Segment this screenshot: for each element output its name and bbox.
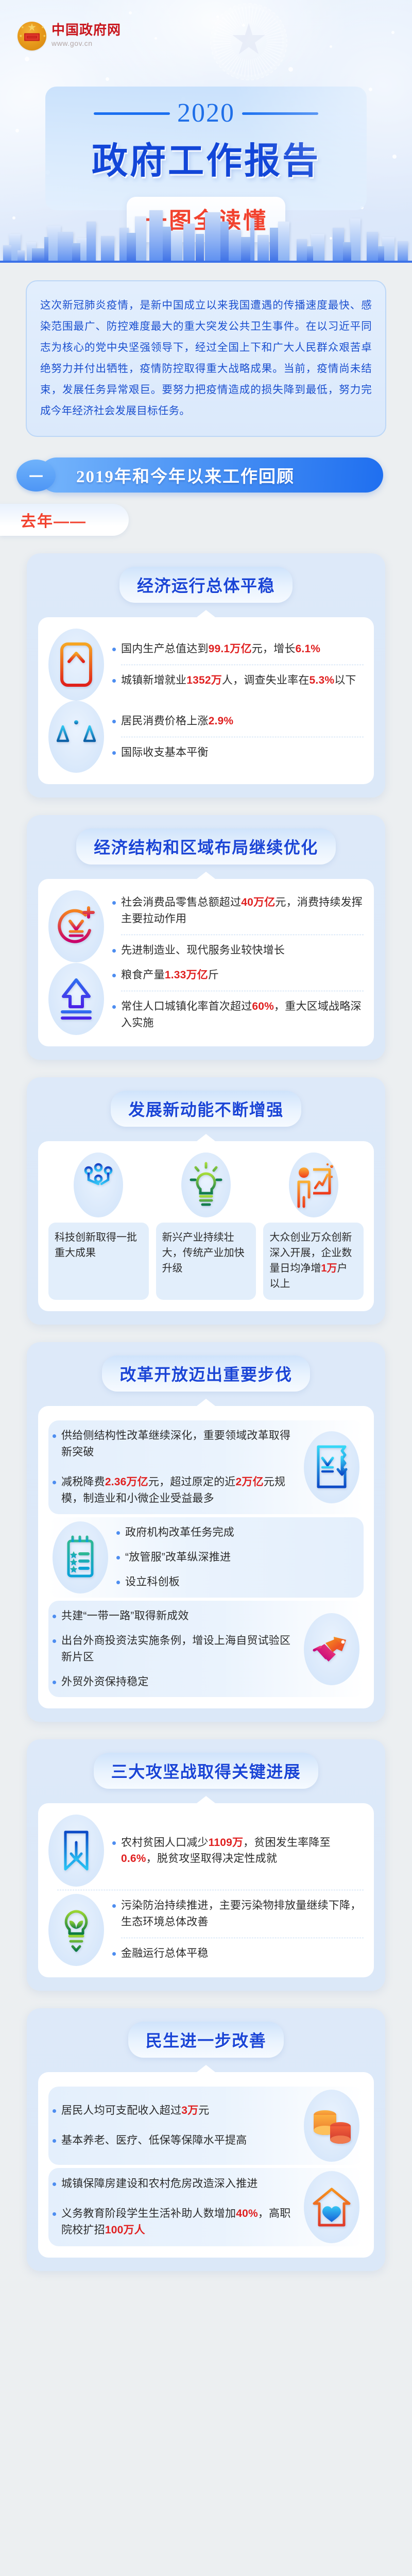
section-index: 一 [29, 466, 43, 486]
card-notch [197, 1399, 215, 1406]
bullet-dot [112, 679, 116, 683]
card-notch [197, 1796, 215, 1803]
intro-section: 这次新冠肺炎疫情，是新中国成立以来我国遭遇的传播速度最快、感染范围最广、防控难度… [0, 263, 412, 441]
stat-group: 污染防治持续推进，主要污染物排放量继续下降，生态环境总体改善 金融运行总体平稳 [48, 1893, 364, 1966]
bullet-list: 农村贫困人口减少1109万，贫困发生率降至0.6%，脱贫攻坚取得决定性成就 [112, 1831, 364, 1872]
intro-card: 这次新冠肺炎疫情，是新中国成立以来我国遭遇的传播速度最快、感染范围最广、防控难度… [26, 280, 386, 437]
up-arrow-line-icon [48, 963, 104, 1035]
checklist-icon [53, 1521, 108, 1594]
subhead-label: 去年—— [21, 509, 87, 531]
bullet-text: 出台外商投资法实施条例，增设上海自贸试验区新片区 [61, 1633, 296, 1666]
trio-caption: 新兴产业持续壮大，传统产业加快升级 [156, 1223, 256, 1300]
card-title-pill: 三大攻坚战取得关键进展 [94, 1753, 319, 1789]
balance-scale-icon [48, 701, 104, 773]
list-item: 政府机构改革任务完成 [116, 1520, 359, 1545]
bullet-dot [53, 2109, 56, 2113]
card-notch [197, 610, 215, 617]
stat-group: 农村贫困人口减少1109万，贫困发生率降至0.6%，脱贫攻坚取得决定性成就 [48, 1815, 364, 1887]
list-item: 先进制造业、现代服务业较快增长 [112, 938, 364, 963]
list-item: 城镇新增就业1352万人，调查失业率在5.3%以下 [112, 668, 364, 693]
card-notch [197, 872, 215, 879]
stat-group: 政府机构改革任务完成 “放管服”改革纵深推进 设立科创板 [53, 1520, 359, 1595]
brand-url: www.gov.cn [51, 39, 121, 47]
stat-group: 居民人均可支配收入超过3万元 基本养老、医疗、低保等保障水平提高 [53, 2090, 359, 2162]
down-arrow-bookmark-icon [48, 1815, 104, 1887]
bullet-text: 城镇新增就业1352万人，调查失业率在5.3%以下 [121, 672, 356, 689]
card-title-pill: 改革开放迈出重要步伐 [102, 1355, 310, 1392]
bullet-list: 城镇保障房建设和农村危房改造深入推进 义务教育阶段学生生活补助人数增加40%，高… [53, 2172, 296, 2243]
card-title: 发展新动能不断增强 [128, 1100, 284, 1119]
hero-year: 2020 [177, 100, 235, 127]
card-title-pill: 民生进一步改善 [128, 2022, 284, 2058]
list-item: 居民人均可支配收入超过3万元 [53, 2098, 296, 2123]
bullet-text: 国际收支基本平衡 [121, 744, 209, 761]
yuan-plus-icon [48, 890, 104, 962]
bullet-dot [112, 974, 116, 977]
bullet-dot [112, 720, 116, 723]
bullet-dot [116, 1581, 120, 1584]
panel-group: 供给侧结构性改革继续深化，重要领域改革取得新突破 减税降费2.36万亿元，超过原… [48, 1420, 364, 1514]
house-heart-icon [304, 2171, 359, 2243]
stat-group: 共建“一带一路”取得新成效 出台外商投资法实施条例，增设上海自贸试验区新片区 外… [53, 1604, 359, 1694]
trio-column: 大众创业万众创新深入开展，企业数量日均净增1万户以上 [263, 1153, 364, 1300]
national-emblem-icon [18, 22, 46, 50]
bullet-dot [53, 2212, 56, 2216]
city-skyline-decoration [0, 201, 412, 263]
bullet-text: 共建“一带一路”取得新成效 [61, 1608, 189, 1624]
stat-group: 供给侧结构性改革继续深化，重要领域改革取得新突破 减税降费2.36万亿元，超过原… [53, 1423, 359, 1511]
bullet-list: 污染防治持续推进，主要污染物排放量继续下降，生态环境总体改善 金融运行总体平稳 [112, 1893, 364, 1966]
card-title-pill: 经济结构和区域布局继续优化 [76, 828, 336, 865]
trio-column: 新兴产业持续壮大，传统产业加快升级 [156, 1153, 256, 1300]
coin-stack-icon [304, 2090, 359, 2162]
card-title: 经济结构和区域布局继续优化 [94, 838, 318, 857]
card-three-battles: 三大攻坚战取得关键进展 农村贫困人口减少1109万 [27, 1739, 385, 1991]
list-item: 常住人口城镇化率首次超过60%，重大区域战略深入实施 [112, 994, 364, 1036]
bullet-dot [112, 1841, 116, 1845]
card-notch [197, 1134, 215, 1141]
divider [121, 737, 364, 737]
list-item: 金融运行总体平稳 [112, 1941, 364, 1966]
list-item: 国际收支基本平衡 [112, 740, 364, 765]
title-block: 2020 政府工作报告 [45, 87, 367, 210]
card-notch [197, 2065, 215, 2072]
list-item: 农村贫困人口减少1109万，贫困发生率降至0.6%，脱贫攻坚取得决定性成就 [112, 1831, 364, 1872]
bullet-dot [53, 1481, 56, 1484]
right-rule [242, 112, 318, 115]
list-item: 出台外商投资法实施条例，增设上海自贸试验区新片区 [53, 1629, 296, 1670]
list-item: 粮食产量1.33万亿斤 [112, 963, 364, 988]
bullet-text: 居民消费价格上涨2.9% [121, 713, 233, 730]
divider [121, 1938, 364, 1938]
section-index-badge: 一 [16, 460, 56, 492]
card-livelihood: 民生进一步改善 居民人均可支配收入超过3万元 基本养老、医疗、低保等保障水平提高 [27, 2008, 385, 2271]
bullet-dot [112, 751, 116, 755]
section-title: 2019年和今年以来工作回顾 [76, 463, 295, 487]
person-chart-icon [289, 1153, 338, 1217]
card-title-pill: 经济运行总体平稳 [119, 567, 293, 603]
card-structure-optimization: 经济结构和区域布局继续优化 [27, 815, 385, 1060]
bullet-list: 国内生产总值达到99.1万亿元，增长6.1% 城镇新增就业1352万人，调查失业… [112, 637, 364, 693]
bullet-dot [53, 1639, 56, 1643]
trio-grid: 科技创新取得一批重大成果 [48, 1153, 364, 1300]
bullet-dot [112, 901, 116, 905]
bullet-list: 居民消费价格上涨2.9% 国际收支基本平衡 [112, 709, 364, 765]
list-item: 基本养老、医疗、低保等保障水平提高 [53, 2128, 296, 2153]
divider [121, 935, 364, 935]
bullet-dot [112, 1005, 116, 1009]
bullet-text: 金融运行总体平稳 [121, 1945, 209, 1962]
bullet-list: 政府机构改革任务完成 “放管服”改革纵深推进 设立科创板 [116, 1520, 359, 1595]
bullet-dot [53, 1681, 56, 1684]
divider [121, 991, 364, 991]
bullet-text: 义务教育阶段学生生活补助人数增加40%，高职院校扩招100万人 [61, 2206, 296, 2239]
card-economy-stable: 经济运行总体平稳 国内生产总值达到99.1万亿元， [27, 553, 385, 798]
bullet-text: 农村贫困人口减少1109万，贫困发生率降至0.6%，脱贫攻坚取得决定性成就 [121, 1835, 364, 1868]
bullet-text: 城镇保障房建设和农村危房改造深入推进 [61, 2176, 258, 2192]
section-banner-bar: 2019年和今年以来工作回顾 [39, 457, 383, 493]
card-title: 经济运行总体平稳 [137, 577, 275, 595]
stat-group: 城镇保障房建设和农村危房改造深入推进 义务教育阶段学生生活补助人数增加40%，高… [53, 2171, 359, 2243]
brand-name: 中国政府网 [51, 23, 121, 38]
bullet-dot [53, 2182, 56, 2186]
card-title-pill: 发展新动能不断增强 [111, 1091, 301, 1127]
list-item: 共建“一带一路”取得新成效 [53, 1604, 296, 1629]
list-item: 社会消费品零售总额超过40万亿元，消费持续发挥主要拉动作用 [112, 890, 364, 931]
trio-column: 科技创新取得一批重大成果 [48, 1153, 149, 1300]
bullet-list: 粮食产量1.33万亿斤 常住人口城镇化率首次超过60%，重大区域战略深入实施 [112, 963, 364, 1036]
intro-paragraph: 这次新冠肺炎疫情，是新中国成立以来我国遭遇的传播速度最快、感染范围最广、防控难度… [40, 295, 372, 421]
bullet-text: 污染防治持续推进，主要污染物排放量继续下降，生态环境总体改善 [121, 1897, 364, 1930]
bullet-text: 社会消费品零售总额超过40万亿元，消费持续发挥主要拉动作用 [121, 894, 364, 927]
hero-title: 政府工作报告 [45, 132, 367, 184]
panel-group: 政府机构改革任务完成 “放管服”改革纵深推进 设立科创板 [48, 1517, 364, 1598]
bullet-text: 常住人口城镇化率首次超过60%，重大区域战略深入实施 [121, 998, 364, 1031]
card-body: 农村贫困人口减少1109万，贫困发生率降至0.6%，脱贫攻坚取得决定性成就 [38, 1803, 374, 1977]
trio-caption: 大众创业万众创新深入开展，企业数量日均净增1万户以上 [263, 1223, 364, 1300]
bullet-text: 外贸外资保持稳定 [61, 1674, 149, 1690]
bullet-list: 居民人均可支配收入超过3万元 基本养老、医疗、低保等保障水平提高 [53, 2098, 296, 2153]
bullet-text: 设立科创板 [125, 1574, 180, 1590]
list-item: 减税降费2.36万亿元，超过原定的近2万亿元规模，制造业和小微企业受益最多 [53, 1470, 296, 1511]
list-item: 义务教育阶段学生生活补助人数增加40%，高职院校扩招100万人 [53, 2201, 296, 2243]
up-arrow-box-icon [48, 629, 104, 701]
bullet-dot [116, 1556, 120, 1560]
bullet-text: 居民人均可支配收入超过3万元 [61, 2103, 210, 2119]
bullet-text: 减税降费2.36万亿元，超过原定的近2万亿元规模，制造业和小微企业受益最多 [61, 1474, 296, 1507]
subhead-pill: 去年—— [0, 504, 129, 536]
list-item: 外贸外资保持稳定 [53, 1670, 296, 1694]
lightbulb-icon [181, 1153, 231, 1217]
card-reform-opening: 改革开放迈出重要步伐 供给侧结构性改革继续深化，重要领域改革取得新突破 减税降费… [27, 1342, 385, 1722]
infographic-page: 中国政府网 www.gov.cn 2020 政府工作报告 一图全读懂 [0, 0, 412, 2292]
bullet-text: 粮食产量1.33万亿斤 [121, 967, 219, 984]
eco-leaf-bulb-icon [48, 1894, 104, 1966]
card-title: 改革开放迈出重要步伐 [119, 1365, 292, 1384]
divider [121, 665, 364, 665]
panel-group: 共建“一带一路”取得新成效 出台外商投资法实施条例，增设上海自贸试验区新片区 外… [48, 1601, 364, 1698]
bullet-dot [112, 648, 116, 651]
gov-brand-logo[interactable]: 中国政府网 www.gov.cn [18, 22, 121, 50]
bullet-list: 供给侧结构性改革继续深化，重要领域改革取得新突破 减税降费2.36万亿元，超过原… [53, 1423, 296, 1511]
bullet-dot [112, 949, 116, 953]
list-item: 污染防治持续推进，主要污染物排放量继续下降，生态环境总体改善 [112, 1893, 364, 1935]
card-body: 社会消费品零售总额超过40万亿元，消费持续发挥主要拉动作用 先进制造业、现代服务… [38, 879, 374, 1046]
bullet-dot [112, 1952, 116, 1956]
card-body: 科技创新取得一批重大成果 [38, 1141, 374, 1311]
bullet-dot [112, 1904, 116, 1908]
bullet-text: “放管服”改革纵深推进 [125, 1549, 231, 1566]
bullet-dot [116, 1531, 120, 1535]
card-new-momentum: 发展新动能不断增强 [27, 1077, 385, 1325]
list-item: 国内生产总值达到99.1万亿元，增长6.1% [112, 637, 364, 662]
yuan-down-doc-icon [304, 1431, 359, 1503]
card-body: 居民人均可支配收入超过3万元 基本养老、医疗、低保等保障水平提高 [38, 2072, 374, 2258]
national-emblem-watermark-icon [210, 3, 287, 80]
list-item: 城镇保障房建设和农村危房改造深入推进 [53, 2172, 296, 2196]
bullet-dot [53, 1615, 56, 1618]
stat-group: 社会消费品零售总额超过40万亿元，消费持续发挥主要拉动作用 先进制造业、现代服务… [48, 890, 364, 963]
list-item: 居民消费价格上涨2.9% [112, 709, 364, 734]
handshake-icon [304, 1613, 359, 1685]
card-title: 三大攻坚战取得关键进展 [111, 1762, 301, 1781]
bullet-text: 先进制造业、现代服务业较快增长 [121, 942, 285, 959]
bullet-list: 社会消费品零售总额超过40万亿元，消费持续发挥主要拉动作用 先进制造业、现代服务… [112, 890, 364, 963]
stat-group: 国内生产总值达到99.1万亿元，增长6.1% 城镇新增就业1352万人，调查失业… [48, 629, 364, 701]
trio-caption: 科技创新取得一批重大成果 [48, 1223, 149, 1300]
bullet-list: 共建“一带一路”取得新成效 出台外商投资法实施条例，增设上海自贸试验区新片区 外… [53, 1604, 296, 1694]
stat-group: 居民消费价格上涨2.9% 国际收支基本平衡 [48, 701, 364, 773]
list-item: 供给侧结构性改革继续深化，重要领域改革取得新突破 [53, 1423, 296, 1465]
panel-group: 城镇保障房建设和农村危房改造深入推进 义务教育阶段学生生活补助人数增加40%，高… [48, 2168, 364, 2246]
panel-group: 居民人均可支配收入超过3万元 基本养老、医疗、低保等保障水平提高 [48, 2087, 364, 2165]
bullet-dot [53, 2139, 56, 2143]
circuit-tree-icon [74, 1153, 123, 1217]
hero-header: 中国政府网 www.gov.cn 2020 政府工作报告 一图全读懂 [0, 0, 412, 263]
bullet-text: 基本养老、医疗、低保等保障水平提高 [61, 2132, 247, 2149]
divider [57, 1890, 364, 1890]
list-item: 设立科创板 [116, 1570, 359, 1595]
left-rule [94, 112, 170, 115]
card-title: 民生进一步改善 [146, 2031, 267, 2050]
bullet-text: 供给侧结构性改革继续深化，重要领域改革取得新突破 [61, 1428, 296, 1461]
card-body: 国内生产总值达到99.1万亿元，增长6.1% 城镇新增就业1352万人，调查失业… [38, 617, 374, 784]
section-banner: 2019年和今年以来工作回顾 一 [16, 457, 412, 492]
list-item: “放管服”改革纵深推进 [116, 1545, 359, 1570]
bullet-text: 政府机构改革任务完成 [125, 1524, 234, 1541]
bullet-text: 国内生产总值达到99.1万亿元，增长6.1% [121, 641, 320, 657]
card-body: 供给侧结构性改革继续深化，重要领域改革取得新突破 减税降费2.36万亿元，超过原… [38, 1406, 374, 1708]
stat-group: 粮食产量1.33万亿斤 常住人口城镇化率首次超过60%，重大区域战略深入实施 [48, 963, 364, 1036]
bullet-dot [53, 1434, 56, 1438]
year-row: 2020 [45, 100, 367, 127]
